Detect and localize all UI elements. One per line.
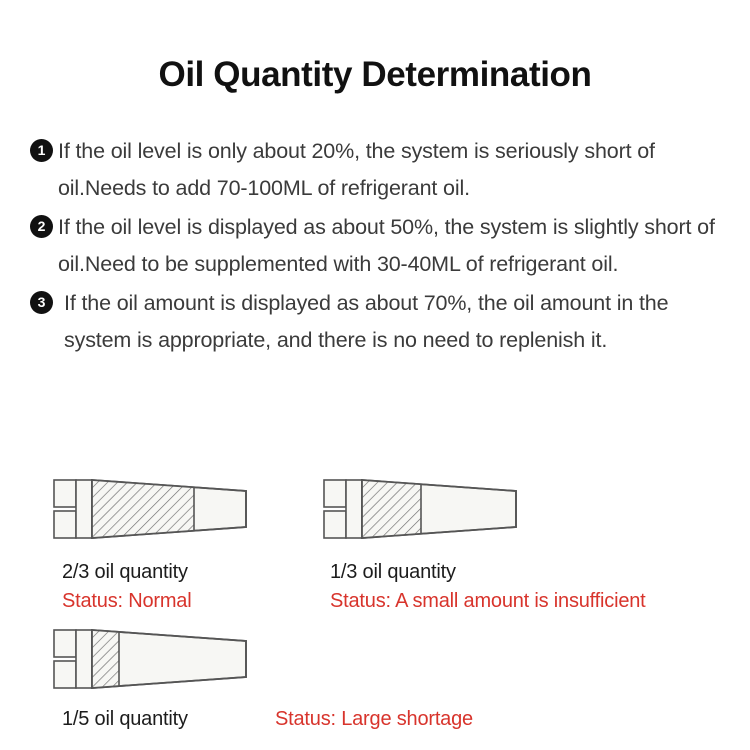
figure-quantity-label-one-third: 1/3 oil quantity: [330, 561, 456, 584]
end-cap-upper-cell: [54, 630, 76, 657]
figure-quantity-label-two-thirds: 2/3 oil quantity: [62, 561, 188, 584]
end-cap-lower-cell: [54, 661, 76, 688]
oil-fill-region: [92, 628, 119, 690]
sight-glass-figure-one-third: [322, 478, 518, 540]
figure-status-label-one-third: Status: A small amount is insufficient: [330, 590, 646, 613]
figure-status-label-two-thirds: Status: Normal: [62, 590, 191, 613]
end-cap-lower-cell: [54, 511, 76, 538]
figure-status-label-one-fifth: Status: Large shortage: [275, 708, 473, 731]
end-cap-neck: [76, 480, 92, 538]
end-cap-lower-cell: [324, 511, 346, 538]
oil-fill-region: [362, 478, 421, 540]
sight-glass-diagram-one-third: [322, 478, 518, 540]
sight-glass-figure-two-thirds: [52, 478, 248, 540]
figure-quantity-label-one-fifth: 1/5 oil quantity: [62, 708, 188, 731]
list-item-text-1: If the oil level is only about 20%, the …: [58, 133, 730, 207]
end-cap-upper-cell: [54, 480, 76, 507]
list-marker-2: 2: [30, 215, 53, 238]
end-cap-neck: [346, 480, 362, 538]
list-marker-3: 3: [30, 291, 53, 314]
list-item: 3 If the oil amount is displayed as abou…: [30, 285, 730, 359]
list-marker-1: 1: [30, 139, 53, 162]
end-cap-neck: [76, 630, 92, 688]
oil-fill-region: [92, 478, 194, 540]
list-item-text-3: If the oil amount is displayed as about …: [58, 285, 730, 359]
end-cap-upper-cell: [324, 480, 346, 507]
sight-glass-figure-one-fifth: [52, 628, 248, 690]
list-item: 1 If the oil level is only about 20%, th…: [30, 133, 730, 207]
instruction-list: 1 If the oil level is only about 20%, th…: [30, 133, 730, 361]
list-item: 2 If the oil level is displayed as about…: [30, 209, 730, 283]
sight-glass-diagram-two-thirds: [52, 478, 248, 540]
sight-glass-diagram-one-fifth: [52, 628, 248, 690]
page-title: Oil Quantity Determination: [0, 55, 750, 95]
list-item-text-2: If the oil level is displayed as about 5…: [58, 209, 730, 283]
